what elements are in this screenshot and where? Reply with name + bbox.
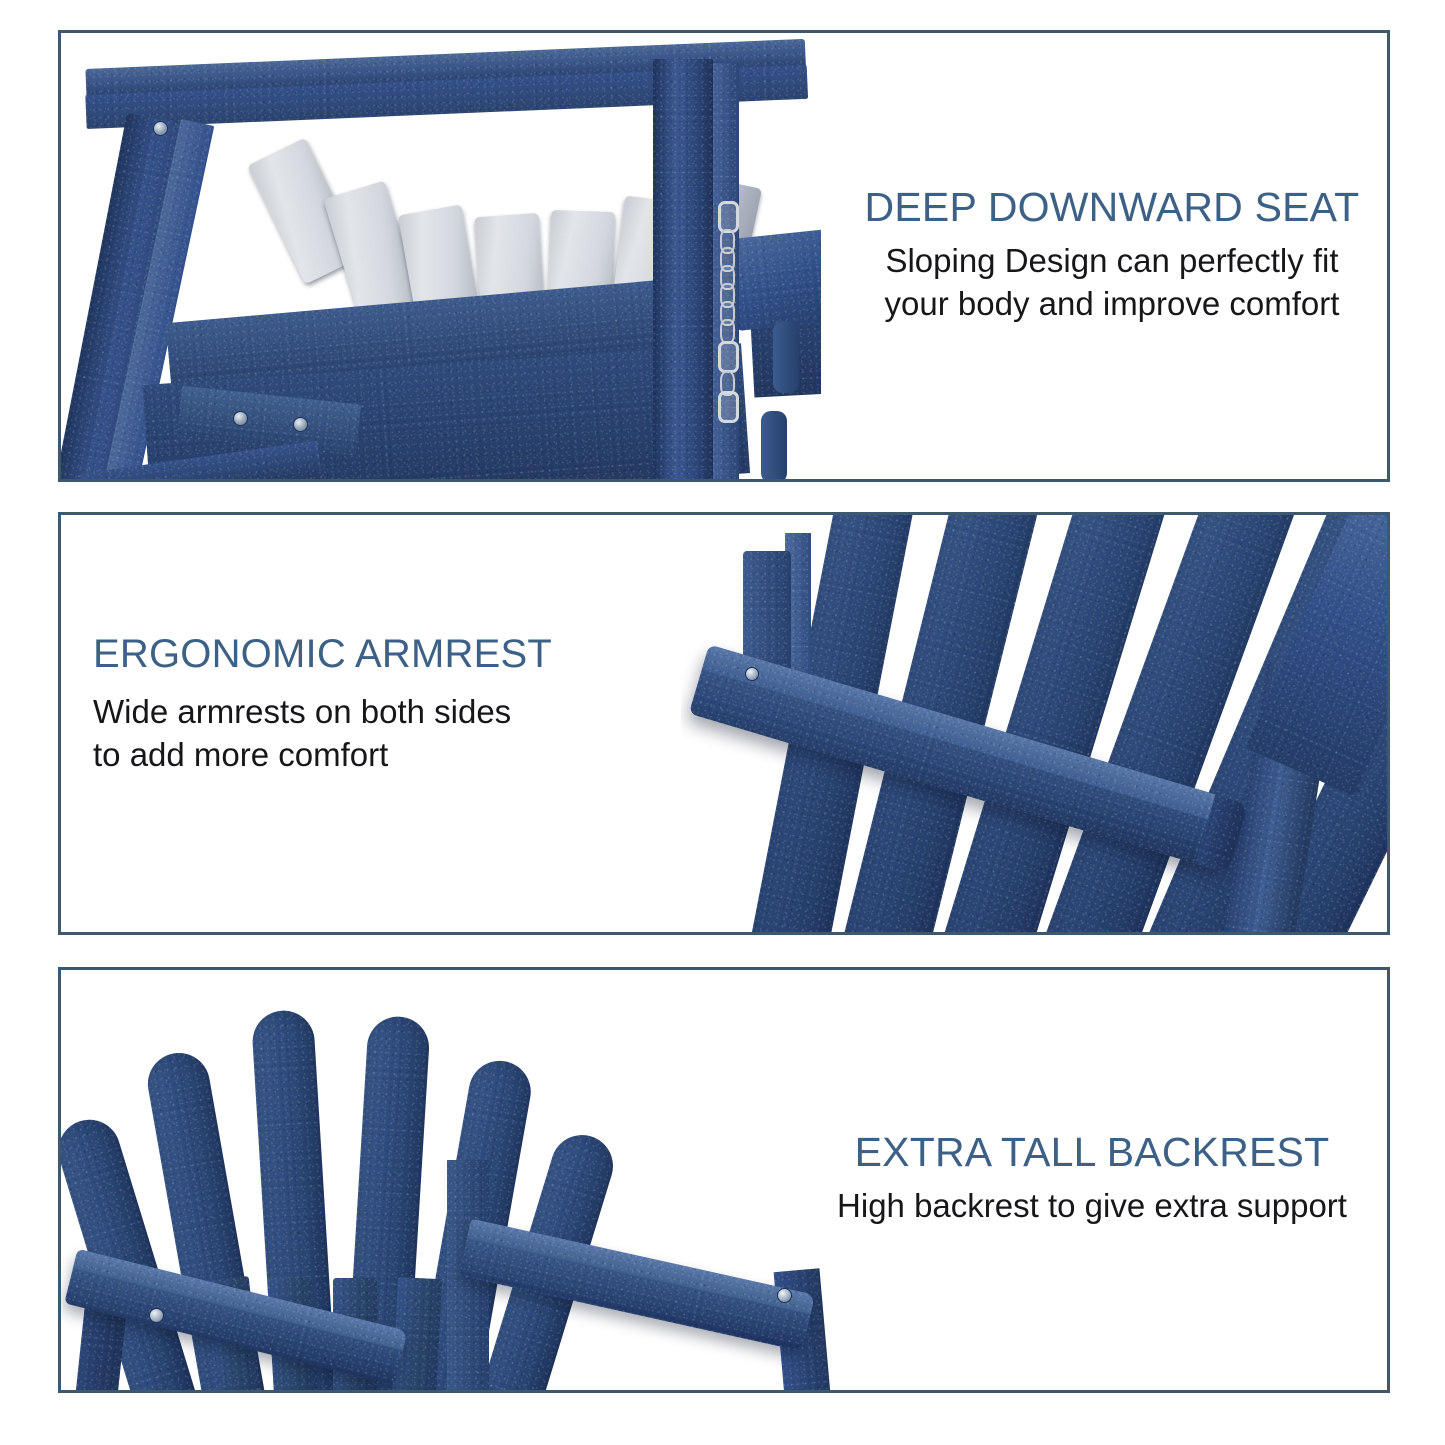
product-photo-seat-detail <box>61 33 821 479</box>
chain-clip-icon <box>718 391 739 423</box>
panel-1-title: DEEP DOWNWARD SEAT <box>831 185 1390 231</box>
screw-icon <box>233 411 248 426</box>
panel-3-title: EXTRA TALL BACKREST <box>803 1130 1381 1176</box>
feature-panel-extra-tall-backrest: EXTRA TALL BACKREST High backrest to giv… <box>58 967 1390 1393</box>
screw-icon <box>777 1288 792 1303</box>
panel-2-title: ERGONOMIC ARMREST <box>93 632 693 677</box>
panel-2-description-line-2: to add more comfort <box>93 736 388 773</box>
product-photo-backrest-detail <box>61 970 841 1390</box>
panel-1-description: Sloping Design can perfectly fit your bo… <box>831 240 1390 326</box>
chair-arm-block <box>729 227 821 331</box>
chair-front-post <box>653 59 713 479</box>
chain-clip-icon <box>718 341 739 373</box>
panel-3-description: High backrest to give extra support <box>803 1185 1381 1228</box>
screw-icon <box>149 1308 164 1323</box>
product-photo-armrest-detail <box>681 515 1387 932</box>
screw-icon <box>745 667 759 681</box>
screw-icon <box>153 121 168 136</box>
panel-3-description-line-1: High backrest to give extra support <box>837 1187 1347 1224</box>
panel-3-text: EXTRA TALL BACKREST High backrest to giv… <box>803 1130 1381 1228</box>
folding-chain <box>720 201 731 417</box>
feature-panel-ergonomic-armrest: ERGONOMIC ARMREST Wide armrests on both … <box>58 512 1390 935</box>
chair-tab <box>773 321 799 393</box>
chair-tab <box>761 411 787 479</box>
feature-infographic: DEEP DOWNWARD SEAT Sloping Design can pe… <box>0 0 1445 1445</box>
screw-icon <box>293 417 308 432</box>
panel-1-text: DEEP DOWNWARD SEAT Sloping Design can pe… <box>831 185 1390 326</box>
feature-panel-deep-downward-seat: DEEP DOWNWARD SEAT Sloping Design can pe… <box>58 30 1390 482</box>
panel-2-description-line-1: Wide armrests on both sides <box>93 693 511 730</box>
panel-1-description-line-1: Sloping Design can perfectly fit <box>885 242 1338 279</box>
panel-2-description: Wide armrests on both sides to add more … <box>93 691 693 777</box>
panel-1-description-line-2: your body and improve comfort <box>885 285 1340 322</box>
panel-2-text: ERGONOMIC ARMREST Wide armrests on both … <box>93 632 693 777</box>
